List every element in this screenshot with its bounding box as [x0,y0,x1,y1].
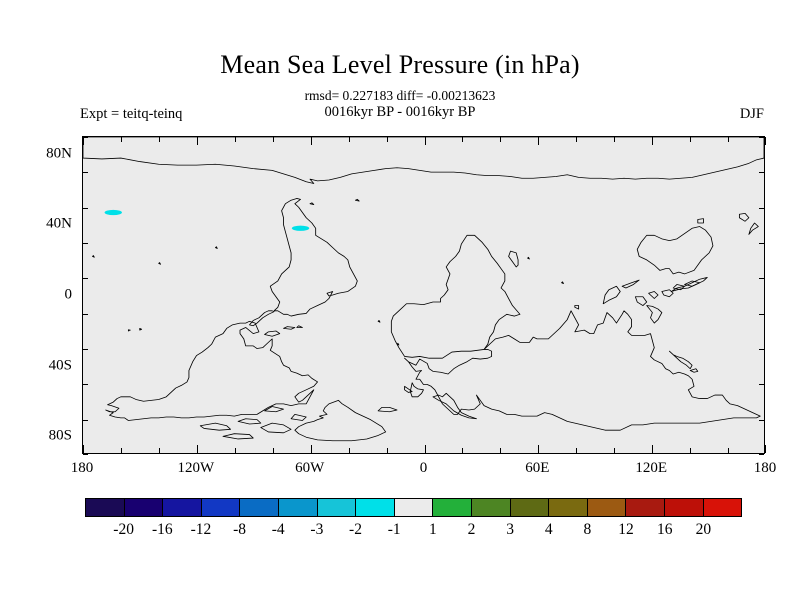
north-atlantic-anomaly [292,226,309,231]
axis-tick [614,448,615,453]
y-axis-label: 80N [24,145,72,162]
anomaly-layer [105,210,310,231]
axis-tick [728,137,729,142]
axis-tick [500,137,501,142]
colorbar-band[interactable] [510,499,549,516]
colorbar-tick-label: -8 [233,521,246,539]
x-axis-label: 180 [71,460,94,477]
axis-tick [462,448,463,453]
axis-tick [83,445,84,453]
axis-tick [83,137,84,145]
axis-tick [235,448,236,453]
axis-tick [197,445,198,453]
rmsd-diff-annotation: rmsd= 0.227183 diff= -0.00213623 [0,88,800,104]
axis-tick [759,137,764,138]
world-coastline-map [83,137,764,453]
axis-tick [759,384,764,385]
colorbar-band[interactable] [317,499,356,516]
x-axis-label: 180 [754,460,777,477]
axis-tick [273,137,274,142]
figure-canvas: Mean Sea Level Pressure (in hPa) rmsd= 0… [0,0,800,600]
colorbar-tick-label: 2 [468,521,476,539]
colorbar-tick-label: -16 [152,521,173,539]
y-axis-label: 80S [24,428,72,445]
y-axis-label: 40N [24,216,72,233]
colorbar-tick-label: -4 [272,521,285,539]
axis-tick [121,448,122,453]
season-annotation: DJF [740,106,764,123]
colorbar-band[interactable] [471,499,510,516]
colorbar-band[interactable] [394,499,433,516]
axis-tick [311,137,312,145]
axis-tick [576,137,577,142]
axis-tick [538,445,539,453]
axis-tick [425,137,426,145]
axis-tick [759,243,764,244]
colorbar-band[interactable] [625,499,664,516]
colorbar-band[interactable] [664,499,703,516]
axis-tick [159,137,160,142]
colorbar-band[interactable] [703,499,742,516]
colorbar-tick-label: 3 [506,521,514,539]
experiment-annotation: Expt = teitq-teinq [80,106,182,123]
page-title: Mean Sea Level Pressure (in hPa) [0,50,800,80]
axis-tick [83,384,88,385]
colorbar-band[interactable] [201,499,240,516]
axis-tick [652,445,653,453]
axis-tick [614,137,615,142]
axis-tick [538,137,539,145]
axis-tick [462,137,463,142]
axis-tick [83,243,88,244]
axis-tick [759,420,764,421]
x-axis-label: 60W [295,460,324,477]
colorbar-band[interactable] [355,499,394,516]
axis-tick [83,278,88,279]
colorbar-band[interactable] [86,499,124,516]
colorbar-tick-label: -3 [310,521,323,539]
axis-tick [387,137,388,142]
colorbar-band[interactable] [239,499,278,516]
axis-tick [349,448,350,453]
colorbar-tick-label: 8 [584,521,592,539]
axis-tick [759,454,764,455]
axis-tick [576,448,577,453]
gulf-of-alaska-anomaly [105,210,122,215]
x-axis-label: 120E [635,460,667,477]
axis-tick [311,445,312,453]
axis-tick [425,445,426,453]
axis-tick [387,448,388,453]
axis-tick [728,448,729,453]
axis-tick [159,448,160,453]
axis-tick [83,314,88,315]
colorbar-band[interactable] [548,499,587,516]
colorbar-band[interactable] [432,499,471,516]
x-axis-label: 60E [525,460,549,477]
axis-tick [500,448,501,453]
axis-tick [235,137,236,142]
axis-tick [759,278,764,279]
colorbar-tick-label: -2 [349,521,362,539]
colorbar-tick-label: -12 [191,521,212,539]
axis-tick [121,137,122,142]
axis-tick [652,137,653,145]
colorbar-band[interactable] [278,499,317,516]
axis-tick [83,208,88,209]
axis-tick [83,420,88,421]
axis-tick [759,172,764,173]
axis-tick [765,137,766,145]
colorbar-band[interactable] [124,499,163,516]
axis-tick [83,454,88,455]
axis-tick [83,172,88,173]
x-axis-label: 0 [420,460,428,477]
colorbar-tick-label: -1 [388,521,401,539]
colorbar-tick-label: 1 [429,521,437,539]
colorbar[interactable] [85,498,742,517]
axis-tick [765,445,766,453]
axis-tick [83,349,88,350]
axis-tick [759,314,764,315]
map-plot-area [82,136,765,454]
axis-tick [273,448,274,453]
colorbar-tick-label: 4 [545,521,553,539]
colorbar-tick-label: -20 [113,521,134,539]
x-axis-label: 120W [177,460,214,477]
coastline-layer [83,137,764,441]
axis-tick [197,137,198,145]
colorbar-tick-label: 16 [657,521,673,539]
axis-tick [690,137,691,142]
axis-tick [690,448,691,453]
colorbar-tick-label: 20 [696,521,712,539]
colorbar-band[interactable] [162,499,201,516]
y-axis-label: 40S [24,357,72,374]
axis-tick [349,137,350,142]
axis-tick [759,208,764,209]
colorbar-band[interactable] [587,499,626,516]
axis-tick [759,349,764,350]
y-axis-label: 0 [24,287,72,304]
axis-tick [83,137,88,138]
colorbar-tick-label: 12 [618,521,634,539]
